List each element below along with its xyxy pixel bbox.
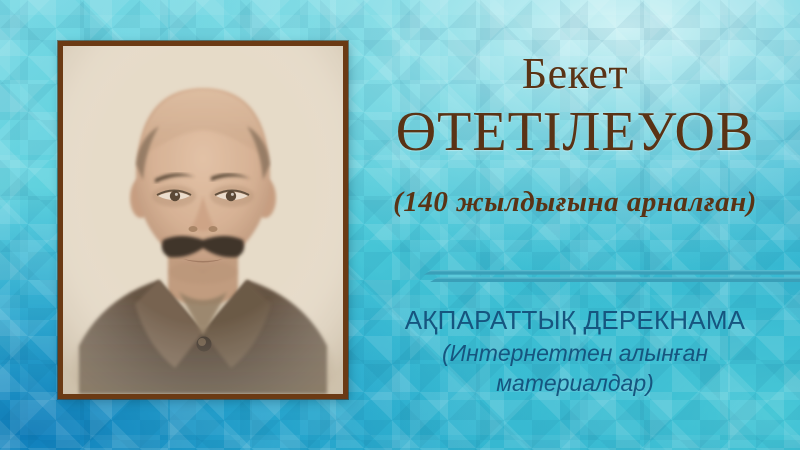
portrait-frame xyxy=(58,41,348,399)
info-subtitle: (Интернеттен алынған материалдар) xyxy=(350,338,800,399)
anniversary-subtitle: (140 жылдығына арналған) xyxy=(350,188,800,217)
portrait-photo xyxy=(63,46,343,394)
divider-lines xyxy=(422,270,800,286)
info-subtitle-line-2: материалдар) xyxy=(350,368,800,398)
title-first-name: Бекет xyxy=(350,52,800,96)
text-column: Бекет ӨТЕТІЛЕУОВ (140 жылдығына арналған… xyxy=(350,0,800,450)
title-surname: ӨТЕТІЛЕУОВ xyxy=(350,104,800,160)
info-heading: АҚПАРАТТЫҚ ДЕРЕКНАМА xyxy=(350,306,800,334)
slide-canvas: Бекет ӨТЕТІЛЕУОВ (140 жылдығына арналған… xyxy=(0,0,800,450)
info-subtitle-line-1: (Интернеттен алынған xyxy=(350,338,800,368)
